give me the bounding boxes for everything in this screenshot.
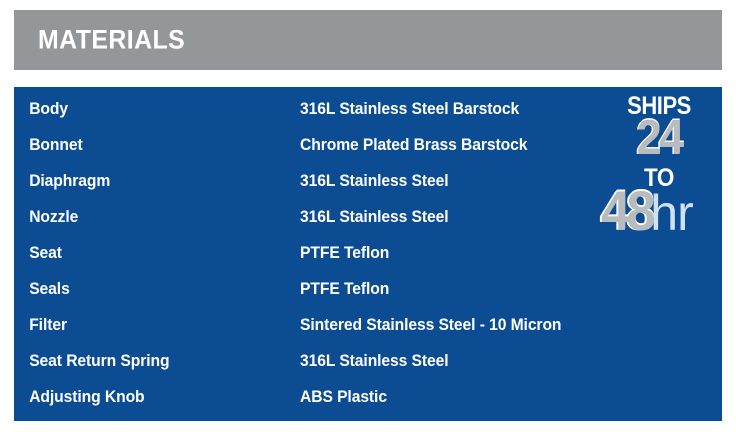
component-material-cell: ABS Plastic (300, 388, 701, 407)
component-material-cell: 316L Stainless Steel (300, 172, 701, 191)
component-material-cell: 316L Stainless Steel (300, 208, 701, 227)
component-name-cell: Adjusting Knob (14, 388, 286, 407)
component-name-cell: Seat Return Spring (14, 352, 286, 371)
component-name-cell: Body (14, 100, 286, 119)
page-title: MATERIALS (38, 25, 185, 56)
table-row: Diaphragm316L Stainless Steel (14, 163, 722, 199)
component-name-cell: Bonnet (14, 136, 286, 155)
table-row: SeatPTFE Teflon (14, 235, 722, 271)
materials-table: Body316L Stainless Steel BarstockBonnetC… (14, 87, 722, 421)
table-row: Adjusting KnobABS Plastic (14, 379, 722, 415)
materials-table-body: Body316L Stainless Steel BarstockBonnetC… (14, 87, 722, 421)
component-material-cell: Sintered Stainless Steel - 10 Micron (300, 316, 701, 335)
component-name-cell: Seals (14, 280, 286, 299)
table-row: Body316L Stainless Steel Barstock (14, 91, 722, 127)
component-name-cell: Filter (14, 316, 286, 335)
table-row: Seat Return Spring316L Stainless Steel (14, 343, 722, 379)
component-material-cell: PTFE Teflon (300, 280, 701, 299)
component-material-cell: PTFE Teflon (300, 244, 701, 263)
table-row: FilterSintered Stainless Steel - 10 Micr… (14, 307, 722, 343)
table-row: BonnetChrome Plated Brass Barstock (14, 127, 722, 163)
table-row: Nozzle316L Stainless Steel (14, 199, 722, 235)
component-name-cell: Nozzle (14, 208, 286, 227)
materials-header-bar: MATERIALS (14, 10, 722, 70)
component-material-cell: Chrome Plated Brass Barstock (300, 136, 701, 155)
table-row: SealsPTFE Teflon (14, 271, 722, 307)
component-name-cell: Seat (14, 244, 286, 263)
component-name-cell: Diaphragm (14, 172, 286, 191)
component-material-cell: 316L Stainless Steel (300, 352, 701, 371)
component-material-cell: 316L Stainless Steel Barstock (300, 100, 701, 119)
materials-spec-panel: MATERIALS Body316L Stainless Steel Barst… (0, 0, 736, 432)
